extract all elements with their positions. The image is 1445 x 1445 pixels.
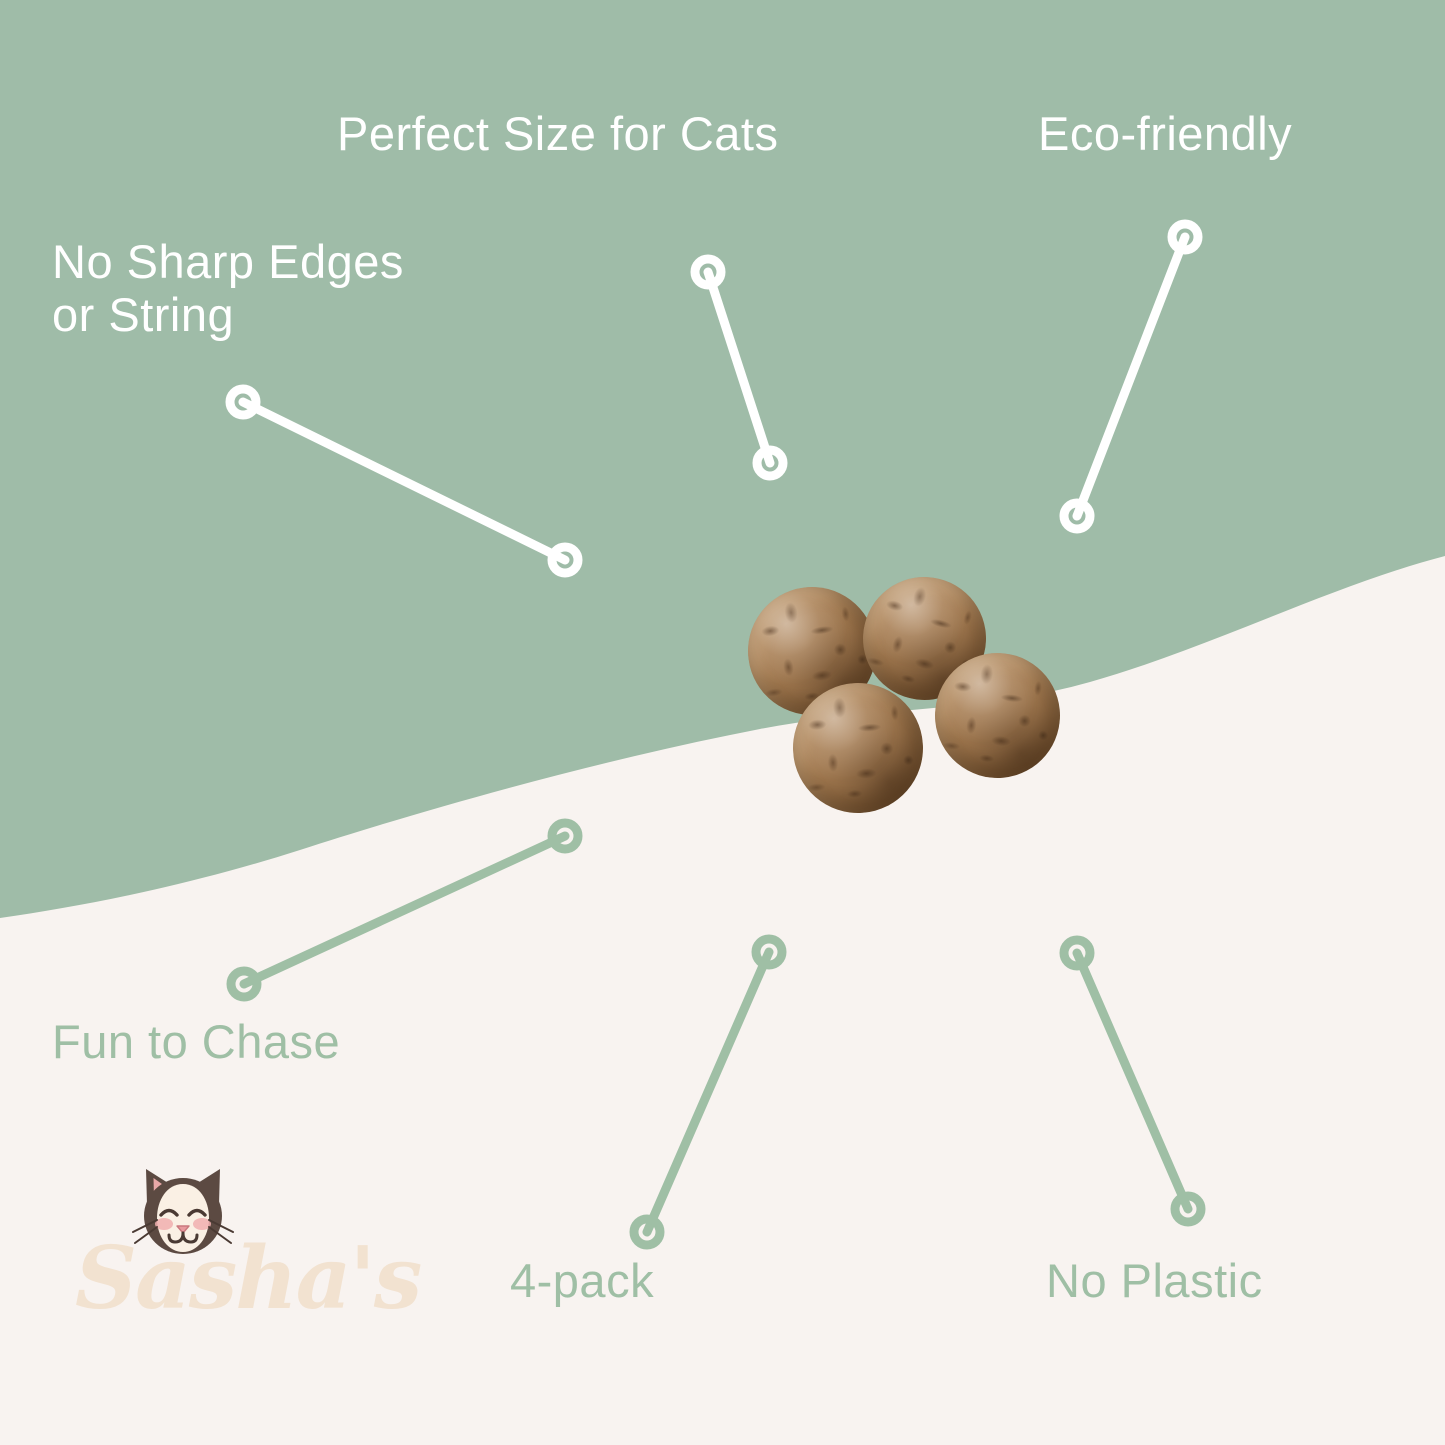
feature-label-fun-to-chase: Fun to Chase xyxy=(52,1016,340,1069)
feature-label-no-plastic: No Plastic xyxy=(1046,1255,1263,1308)
feature-label-eco-friendly: Eco-friendly xyxy=(1038,108,1292,161)
feature-label-4-pack: 4-pack xyxy=(510,1255,654,1308)
product-infographic: No Sharp Edges or String Perfect Size fo… xyxy=(0,0,1445,1445)
cork-ball-group xyxy=(735,565,1065,840)
brand-wordmark: Sasha's xyxy=(75,1236,405,1322)
feature-label-no-sharp-edges: No Sharp Edges or String xyxy=(52,236,404,341)
feature-label-perfect-size-for-cats: Perfect Size for Cats xyxy=(337,108,779,161)
brand-logo: Sasha's xyxy=(75,1158,405,1348)
